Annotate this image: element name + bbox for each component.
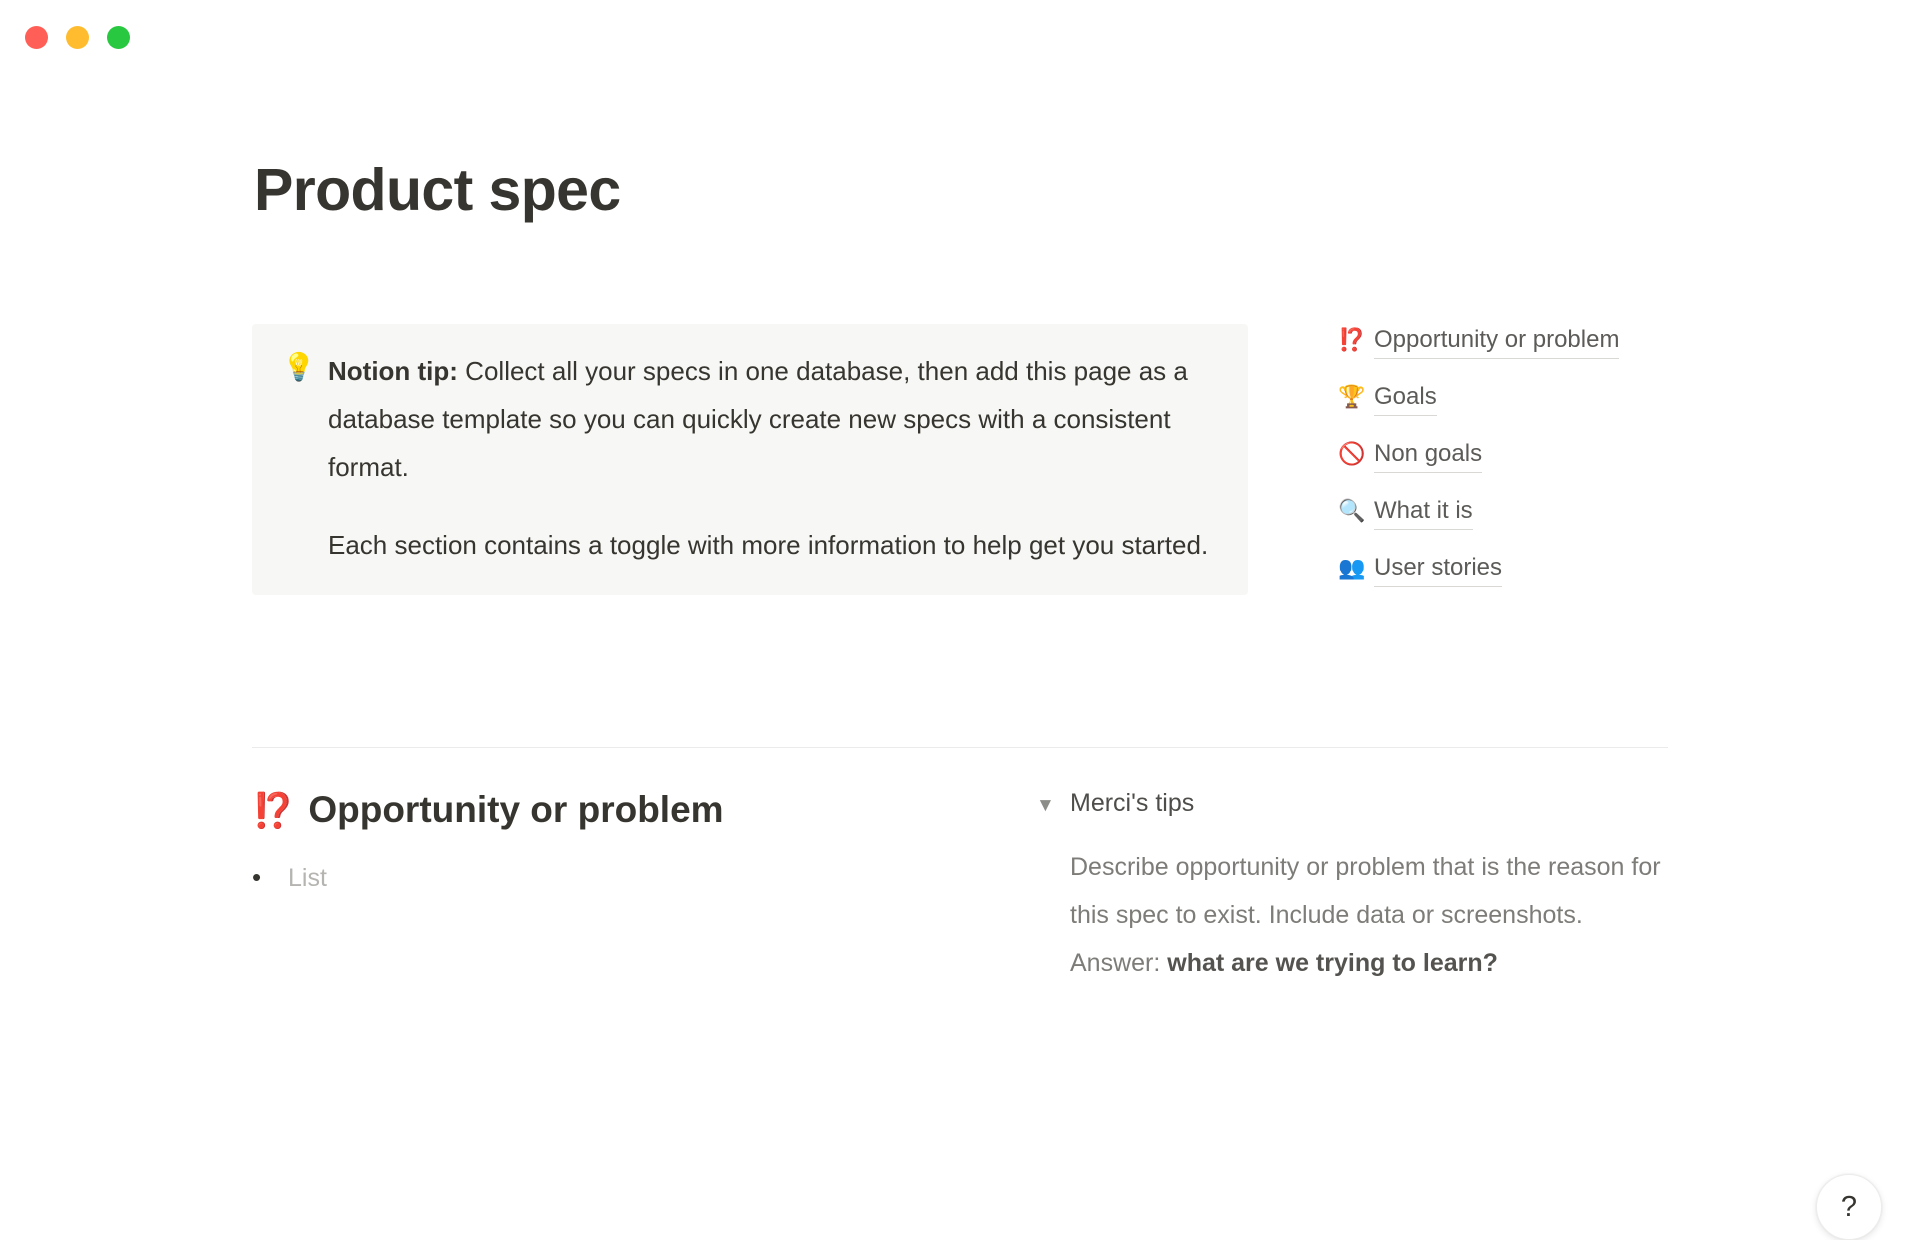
tips-paragraph: Describe opportunity or problem that is … <box>1070 843 1668 987</box>
table-of-contents: ⁉️ Opportunity or problem 🏆 Goals 🚫 Non … <box>1338 324 1668 587</box>
tips-toggle-label: Merci's tips <box>1070 786 1194 820</box>
traffic-light-controls <box>25 26 130 49</box>
tips-toggle-content: Describe opportunity or problem that is … <box>1036 843 1668 987</box>
callout-paragraph-2: Each section contains a toggle with more… <box>328 521 1216 569</box>
toc-link-label[interactable]: Goals <box>1374 381 1437 416</box>
tips-toggle-header[interactable]: ▼ Merci's tips <box>1036 786 1668 823</box>
toc-link-label[interactable]: Non goals <box>1374 438 1482 473</box>
bottom-column-block: ⁉️ Opportunity or problem • List ▼ Merci… <box>252 786 1668 987</box>
table-of-contents-column: ⁉️ Opportunity or problem 🏆 Goals 🚫 Non … <box>1248 324 1668 609</box>
toc-item-goals[interactable]: 🏆 Goals <box>1338 381 1668 416</box>
exclamation-question-icon: ⁉️ <box>252 787 294 835</box>
question-mark-icon: ? <box>1841 1191 1857 1224</box>
top-column-block: 💡 Notion tip: Collect all your specs in … <box>252 324 1668 609</box>
trophy-icon: 🏆 <box>1338 381 1374 413</box>
toc-link-label[interactable]: User stories <box>1374 552 1502 587</box>
page-title[interactable]: Product spec <box>254 155 621 225</box>
maximize-window-icon[interactable] <box>107 26 130 49</box>
magnifying-glass-icon: 🔍 <box>1338 495 1374 527</box>
section-heading-label: Opportunity or problem <box>308 786 723 834</box>
bulleted-list: • List <box>252 857 1012 898</box>
section-heading[interactable]: ⁉️ Opportunity or problem <box>252 786 1012 835</box>
callout-lead-label: Notion tip: <box>328 356 458 386</box>
toc-link-label[interactable]: What it is <box>1374 495 1473 530</box>
tips-paragraph-bold: what are we trying to learn? <box>1167 949 1498 977</box>
lightbulb-icon: 💡 <box>282 347 316 387</box>
callout-paragraph-1: Notion tip: Collect all your specs in on… <box>328 347 1216 491</box>
bullet-marker-icon: • <box>252 857 288 897</box>
callout-column: 💡 Notion tip: Collect all your specs in … <box>252 324 1248 595</box>
document-page: Product spec 💡 Notion tip: Collect all y… <box>0 74 1920 1200</box>
toc-item-what-it-is[interactable]: 🔍 What it is <box>1338 495 1668 530</box>
callout-paragraph-1-rest: Collect all your specs in one database, … <box>328 356 1188 482</box>
minimize-window-icon[interactable] <box>66 26 89 49</box>
close-window-icon[interactable] <box>25 26 48 49</box>
two-people-icon: 👥 <box>1338 552 1374 584</box>
exclamation-question-icon: ⁉️ <box>1338 324 1374 356</box>
list-item-placeholder[interactable]: List <box>288 858 327 898</box>
help-button[interactable]: ? <box>1816 1174 1882 1240</box>
section-column: ⁉️ Opportunity or problem • List <box>252 786 1012 898</box>
section-divider <box>252 747 1668 748</box>
toc-item-opportunity-or-problem[interactable]: ⁉️ Opportunity or problem <box>1338 324 1668 359</box>
toc-item-non-goals[interactable]: 🚫 Non goals <box>1338 438 1668 473</box>
callout-body: Notion tip: Collect all your specs in on… <box>316 347 1216 569</box>
notion-tip-callout[interactable]: 💡 Notion tip: Collect all your specs in … <box>252 324 1248 595</box>
chevron-down-icon[interactable]: ▼ <box>1036 789 1070 823</box>
window-titlebar <box>0 0 1920 74</box>
list-item[interactable]: • List <box>252 857 1012 898</box>
toc-item-user-stories[interactable]: 👥 User stories <box>1338 552 1668 587</box>
tips-column: ▼ Merci's tips Describe opportunity or p… <box>1012 786 1668 987</box>
prohibited-icon: 🚫 <box>1338 438 1374 470</box>
toc-link-label[interactable]: Opportunity or problem <box>1374 324 1619 359</box>
